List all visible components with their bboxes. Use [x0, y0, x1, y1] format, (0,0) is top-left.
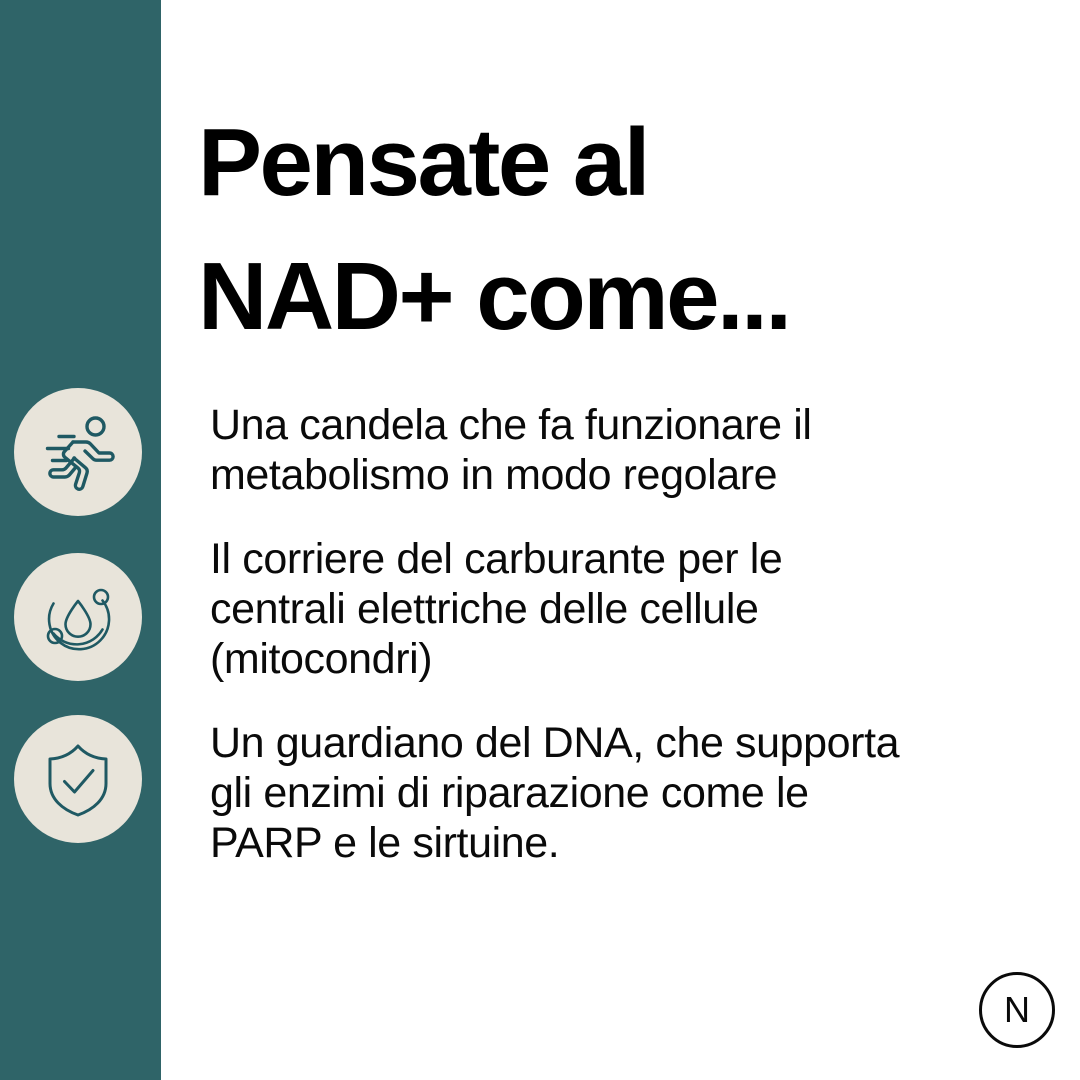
- shield-check-icon: [35, 736, 121, 822]
- icon-badge-fuel-carrier: [14, 553, 142, 681]
- body-text-fuel-carrier: Il corriere del carburante per le centra…: [210, 534, 1030, 684]
- left-accent-rail: [0, 0, 161, 1080]
- body-line: Il corriere del carburante per le: [210, 534, 1030, 584]
- body-line: centrali elettriche delle cellule: [210, 584, 1030, 634]
- water-droplet-orbit-icon: [35, 574, 121, 660]
- page-title: Pensate al NAD+ come...: [198, 96, 998, 364]
- body-line: metabolismo in modo regolare: [210, 450, 1030, 500]
- body-text-metabolism: Una candela che fa funzionare il metabol…: [210, 400, 1030, 500]
- icon-badge-metabolism: [14, 388, 142, 516]
- body-line: PARP e le sirtuine.: [210, 818, 1030, 868]
- body-line: Una candela che fa funzionare il: [210, 400, 1030, 450]
- slide-canvas: Pensate al NAD+ come... Una candela che …: [0, 0, 1080, 1080]
- running-person-icon: [35, 409, 121, 495]
- body-line: gli enzimi di riparazione come le: [210, 768, 1030, 818]
- body-text-dna-guardian: Un guardiano del DNA, che supporta gli e…: [210, 718, 1030, 868]
- icon-badge-dna-guardian: [14, 715, 142, 843]
- body-line: Un guardiano del DNA, che supporta: [210, 718, 1030, 768]
- circled-n-logo: N: [979, 972, 1055, 1048]
- brandmark-letter: N: [1004, 992, 1030, 1028]
- page-title-line-2: NAD+ come...: [198, 230, 998, 364]
- body-line: (mitocondri): [210, 634, 1030, 684]
- page-title-line-1: Pensate al: [198, 96, 998, 230]
